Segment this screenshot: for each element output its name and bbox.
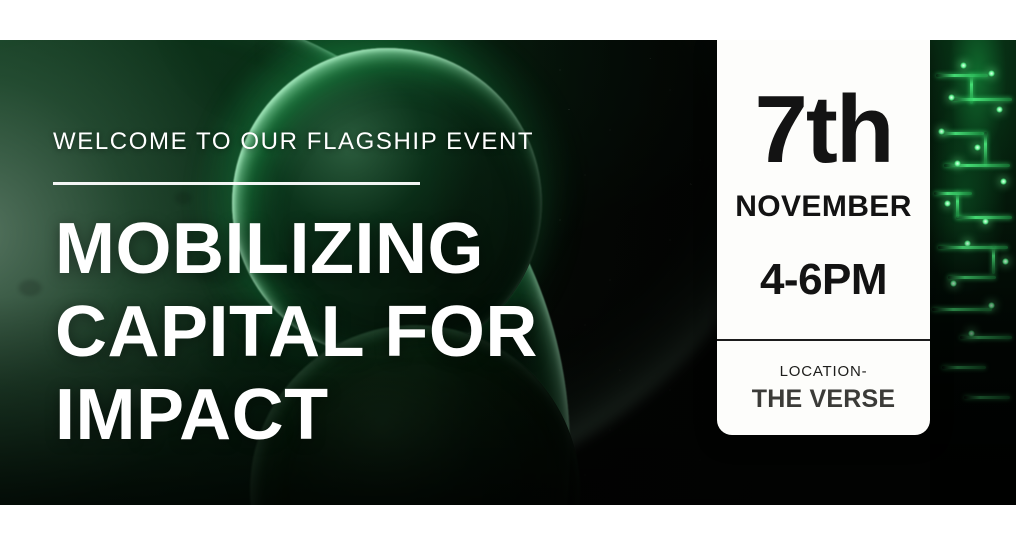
location-label: LOCATION-	[717, 363, 930, 380]
headline-line-2: CAPITAL FOR	[55, 291, 538, 374]
headline-line-1: MOBILIZING	[55, 208, 538, 291]
event-details-card: 7th NOVEMBER 4-6PM LOCATION- THE VERSE	[717, 40, 930, 435]
card-date-section: 7th NOVEMBER 4-6PM	[717, 40, 930, 339]
divider-rule	[53, 182, 420, 185]
circuit-board-panel	[930, 40, 1016, 505]
event-banner: WELCOME TO OUR FLAGSHIP EVENT MOBILIZING…	[0, 0, 1016, 550]
headline-line-3: IMPACT	[55, 374, 538, 457]
event-day: 7th	[717, 87, 930, 173]
event-time: 4-6PM	[717, 255, 930, 305]
page-title: MOBILIZING CAPITAL FOR IMPACT	[55, 208, 538, 456]
card-location-section: LOCATION- THE VERSE	[717, 341, 930, 435]
eyebrow-text: WELCOME TO OUR FLAGSHIP EVENT	[53, 128, 534, 156]
event-month: NOVEMBER	[717, 190, 930, 224]
background-photo-band: WELCOME TO OUR FLAGSHIP EVENT MOBILIZING…	[0, 40, 1016, 505]
location-name: THE VERSE	[717, 385, 930, 414]
circuit-board-fade	[930, 40, 1016, 505]
